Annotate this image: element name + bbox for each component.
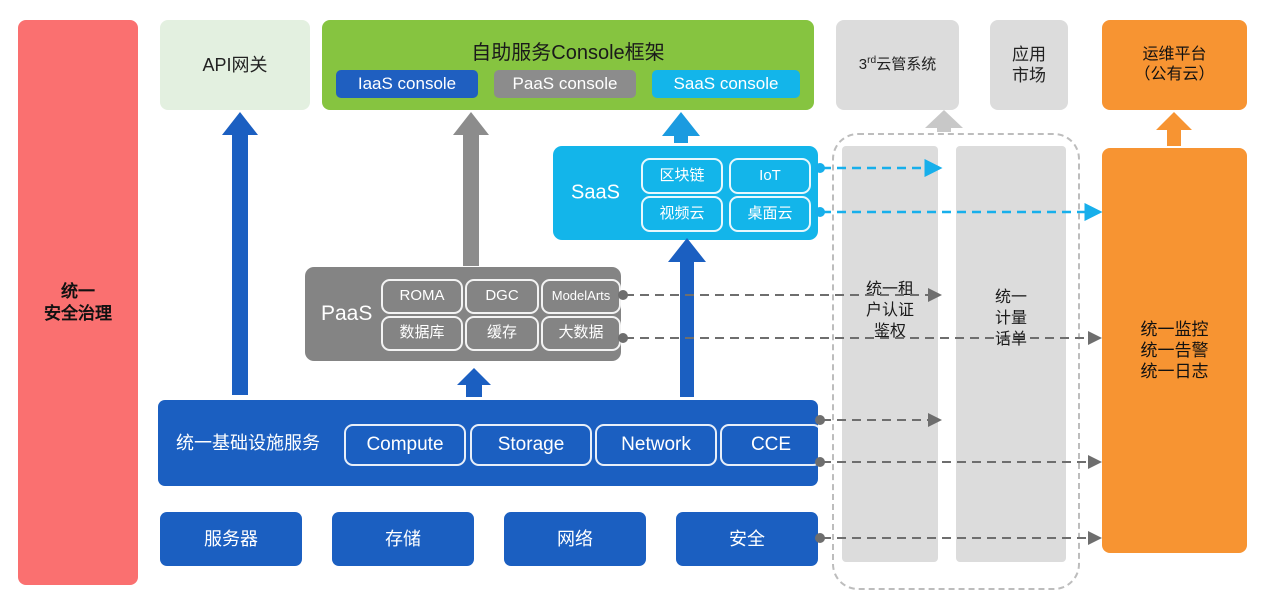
api-gateway-box[interactable]: API网关 bbox=[160, 20, 310, 110]
arrow-infra-to-saas bbox=[668, 238, 706, 397]
self-service-console-frame[interactable]: 自助服务Console框架 IaaS console PaaS console … bbox=[322, 20, 814, 110]
resource-box-storage[interactable]: 存储 bbox=[332, 512, 474, 566]
ops-platform-monitoring-box[interactable]: 统一监控 统一告警 统一日志 bbox=[1102, 148, 1247, 553]
arrow-shared-to-third-party bbox=[925, 110, 963, 132]
resource-box-security[interactable]: 安全 bbox=[676, 512, 818, 566]
unified-metering-column[interactable] bbox=[956, 146, 1066, 562]
third-party-cloud-mgmt-box[interactable]: 3rd云管系统 bbox=[836, 20, 959, 110]
unified-tenant-auth-column[interactable] bbox=[842, 146, 938, 562]
paas-block-title: PaaS bbox=[321, 301, 372, 327]
unified-tenant-auth-label: 统一租 户认证 鉴权 bbox=[842, 280, 938, 342]
paas-tag-bigdata[interactable]: 大数据 bbox=[541, 316, 621, 351]
infra-tag-cce[interactable]: CCE bbox=[720, 424, 822, 466]
paas-tag-dgc[interactable]: DGC bbox=[465, 279, 539, 314]
infra-tag-compute[interactable]: Compute bbox=[344, 424, 466, 466]
chip-saas-console[interactable]: SaaS console bbox=[652, 70, 800, 98]
app-market-box[interactable]: 应用 市场 bbox=[990, 20, 1068, 110]
arrow-saas-to-saas-console bbox=[662, 112, 700, 143]
architecture-diagram: 统一 安全治理 API网关 自助服务Console框架 IaaS console… bbox=[0, 0, 1265, 605]
saas-tag-video-cloud[interactable]: 视频云 bbox=[641, 196, 723, 232]
saas-tag-desktop-cloud[interactable]: 桌面云 bbox=[729, 196, 811, 232]
saas-block-title: SaaS bbox=[571, 181, 620, 206]
infra-tag-network[interactable]: Network bbox=[595, 424, 717, 466]
infra-bar-title: 统一基础设施服务 bbox=[176, 432, 320, 455]
arrow-ops-side-to-ops-top bbox=[1156, 112, 1192, 146]
paas-tag-modelarts[interactable]: ModelArts bbox=[541, 279, 621, 314]
arrow-infra-to-api-gateway bbox=[222, 112, 258, 395]
infra-tag-storage[interactable]: Storage bbox=[470, 424, 592, 466]
ops-platform-public-cloud-box[interactable]: 运维平台 （公有云） bbox=[1102, 20, 1247, 110]
arrow-infra-to-paas bbox=[457, 368, 491, 397]
chip-paas-console[interactable]: PaaS console bbox=[494, 70, 636, 98]
resource-box-network[interactable]: 网络 bbox=[504, 512, 646, 566]
saas-block[interactable]: SaaS 区块链 IoT 视频云 桌面云 bbox=[553, 146, 818, 240]
unified-infrastructure-bar[interactable]: 统一基础设施服务 Compute Storage Network CCE bbox=[158, 400, 818, 486]
arrow-paas-to-console bbox=[453, 112, 489, 266]
chip-iaas-console[interactable]: IaaS console bbox=[336, 70, 478, 98]
unified-security-governance-box[interactable]: 统一 安全治理 bbox=[18, 20, 138, 585]
resource-box-server[interactable]: 服务器 bbox=[160, 512, 302, 566]
console-frame-title: 自助服务Console框架 bbox=[322, 36, 814, 65]
third-party-label: 3rd云管系统 bbox=[859, 55, 936, 75]
saas-tag-iot[interactable]: IoT bbox=[729, 158, 811, 194]
paas-tag-cache[interactable]: 缓存 bbox=[465, 316, 539, 351]
unified-metering-label: 统一 计量 话单 bbox=[956, 288, 1066, 350]
saas-tag-blockchain[interactable]: 区块链 bbox=[641, 158, 723, 194]
paas-tag-roma[interactable]: ROMA bbox=[381, 279, 463, 314]
paas-tag-database[interactable]: 数据库 bbox=[381, 316, 463, 351]
paas-block[interactable]: PaaS ROMA DGC ModelArts 数据库 缓存 大数据 bbox=[305, 267, 621, 361]
